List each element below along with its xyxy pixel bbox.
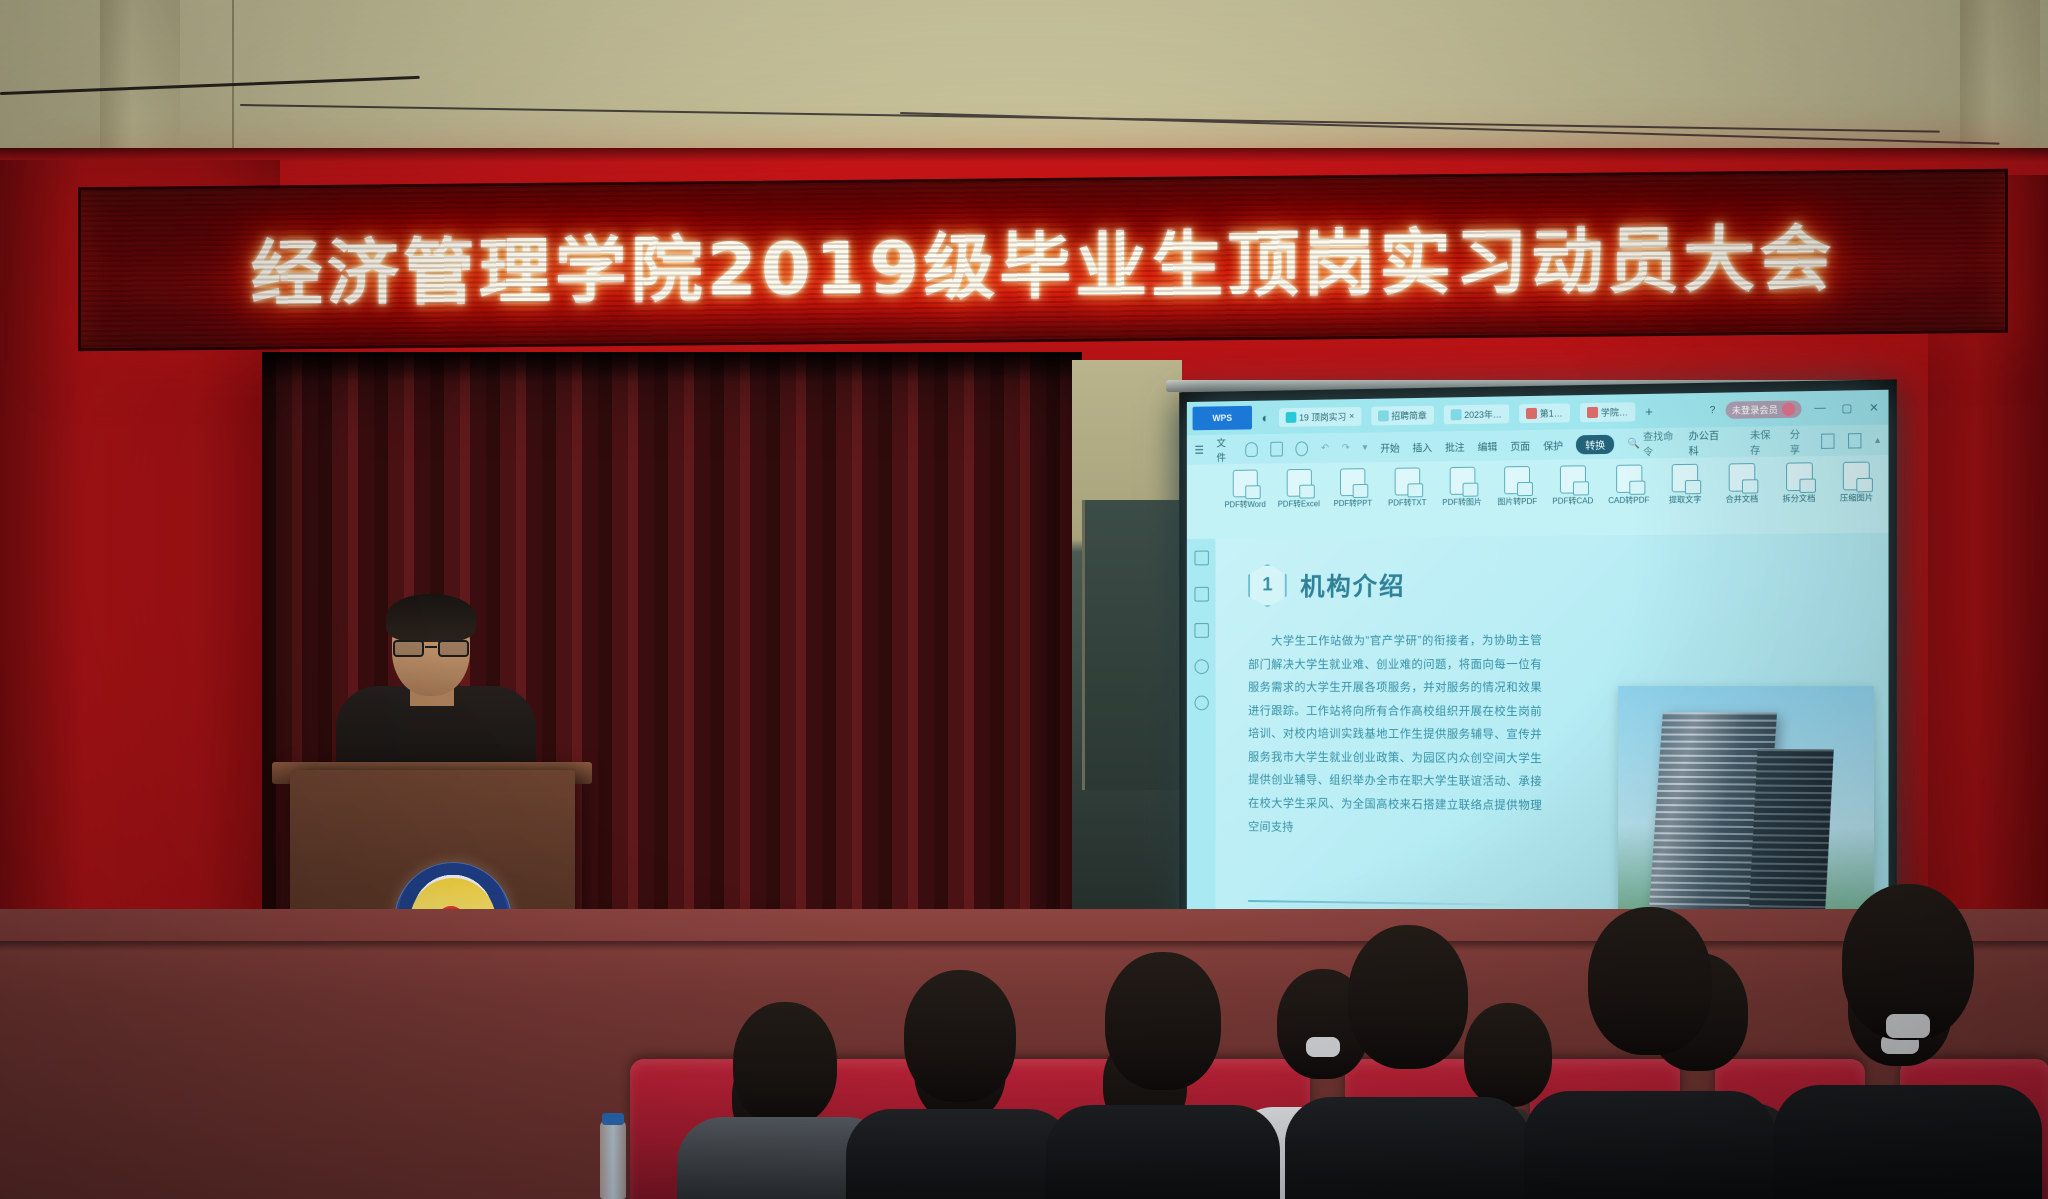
- head: [1105, 952, 1221, 1090]
- ribbon-tool-label: 提取文字: [1669, 496, 1701, 505]
- close-icon[interactable]: ×: [1349, 411, 1354, 421]
- ribbon-tool-label: CAD转PDF: [1608, 497, 1649, 506]
- left-sidebar-rail: [1187, 539, 1216, 925]
- audience-member: [1300, 973, 1515, 1199]
- ribbon-tool[interactable]: PDF转Excel: [1273, 469, 1325, 510]
- chevron-up-icon[interactable]: ▴: [1875, 434, 1880, 445]
- projection-screen-frame: WPS ◐ 19 顶岗实习 × 招聘简章 2023年… 第1…: [1179, 379, 1897, 972]
- chalkboard: [1082, 500, 1188, 790]
- document-tab-label: 19 顶岗实习: [1299, 410, 1346, 424]
- audience-seating: [0, 969, 2048, 1199]
- shoulders: [1285, 1097, 1531, 1199]
- audience-member: [1790, 948, 2025, 1199]
- split-doc-icon: [1786, 462, 1813, 491]
- ribbon-tool[interactable]: PDF转TXT: [1381, 467, 1434, 508]
- fullscreen-icon[interactable]: [1848, 433, 1862, 449]
- ribbon-tool-label: 拆分文档: [1783, 495, 1816, 504]
- document-tab[interactable]: 招聘简章: [1371, 405, 1434, 425]
- section-number-badge: 1: [1248, 564, 1287, 607]
- search-icon: 🔍: [1627, 438, 1640, 449]
- pdf-to-cad-icon: [1560, 465, 1586, 493]
- titlebar-spacer: [1663, 410, 1700, 411]
- audience-member: [860, 998, 1060, 1199]
- ribbon-tool[interactable]: 压缩图片: [1829, 461, 1885, 503]
- ribbon-tool[interactable]: PDF转PPT: [1327, 468, 1379, 509]
- file-menu[interactable]: 文件: [1216, 435, 1232, 465]
- compress-image-icon: [1843, 462, 1870, 491]
- document-tab-label: 学院…: [1601, 405, 1628, 419]
- head: [1348, 925, 1468, 1069]
- audience-member: [1060, 988, 1265, 1199]
- menu-item-insert[interactable]: 插入: [1413, 439, 1433, 454]
- head: [904, 970, 1016, 1102]
- cad-to-pdf-icon: [1616, 465, 1642, 493]
- image-to-pdf-icon: [1504, 466, 1530, 494]
- shoulders: [1524, 1091, 1776, 1199]
- ribbon-tool-label: PDF转CAD: [1552, 497, 1593, 506]
- save-icon[interactable]: [1270, 441, 1283, 456]
- minimize-button[interactable]: —: [1812, 402, 1829, 414]
- annotate-icon[interactable]: [1194, 659, 1208, 674]
- help-icon[interactable]: ?: [1710, 404, 1716, 415]
- led-banner: 经济管理学院2019级毕业生顶岗实习动员大会: [78, 169, 2008, 352]
- ribbon-tool[interactable]: PDF转图片: [1436, 467, 1489, 508]
- pdf-page[interactable]: 1 机构介绍 大学生工作站做为“官产学研”的衔接者，为协助主管部门解决大学生就业…: [1216, 533, 1889, 936]
- doc-tab-icon: [1378, 410, 1389, 421]
- pdf-to-image-icon: [1449, 467, 1475, 495]
- command-search[interactable]: 🔍 查找命令: [1627, 428, 1675, 459]
- close-button[interactable]: ✕: [1866, 401, 1883, 415]
- head: [1588, 907, 1712, 1055]
- audience-member: [1540, 963, 1760, 1199]
- speaker-hair: [386, 594, 476, 642]
- menu-item-comment[interactable]: 批注: [1445, 438, 1465, 453]
- unsaved-indicator[interactable]: 未保存: [1750, 426, 1776, 457]
- undo-icon[interactable]: ↶: [1321, 442, 1329, 453]
- document-tab[interactable]: 2023年…: [1443, 404, 1508, 424]
- tower-secondary: [1747, 749, 1834, 936]
- pdf-tab-icon: [1587, 406, 1598, 417]
- pdf-to-txt-icon: [1395, 467, 1421, 495]
- slide-divider: [1248, 900, 1527, 906]
- redo-icon[interactable]: ↷: [1342, 442, 1350, 453]
- doc-tab-icon: [1286, 411, 1297, 422]
- document-tab[interactable]: 学院…: [1580, 402, 1635, 422]
- pdf-to-excel-icon: [1286, 469, 1311, 497]
- print-icon[interactable]: [1296, 441, 1309, 456]
- slide-title: 机构介绍: [1300, 567, 1405, 603]
- slide-heading: 1 机构介绍: [1248, 560, 1870, 608]
- menu-item-start[interactable]: 开始: [1380, 439, 1400, 454]
- shoulders: [846, 1109, 1074, 1199]
- slide-body-text: 大学生工作站做为“官产学研”的衔接者，为协助主管部门解决大学生就业难、创业难的问…: [1248, 630, 1542, 842]
- document-tab-label: 2023年…: [1464, 407, 1502, 421]
- doc-tab-icon: [1450, 409, 1461, 420]
- avatar: [1782, 402, 1795, 415]
- shoulders: [1046, 1105, 1280, 1199]
- sign-icon[interactable]: [1194, 696, 1208, 711]
- shoulders: [1774, 1085, 2042, 1199]
- face-mask: [1886, 1014, 1930, 1038]
- share-button[interactable]: 分享: [1790, 426, 1808, 457]
- document-tab-label: 第1…: [1540, 406, 1563, 419]
- ribbon-tool-label: PDF转TXT: [1388, 499, 1426, 508]
- menu-item-protect[interactable]: 保护: [1543, 437, 1563, 452]
- pdf-tab-icon: [1526, 407, 1537, 418]
- wall-shadow: [0, 148, 2048, 162]
- user-account-pill[interactable]: 未登录会员: [1726, 400, 1802, 418]
- wps-logo: WPS: [1193, 406, 1252, 431]
- bottle-cap: [602, 1113, 624, 1125]
- collaborate-icon[interactable]: [1821, 433, 1835, 448]
- extract-text-icon: [1672, 464, 1698, 493]
- stage-edge: [0, 941, 2048, 951]
- ribbon-tool-label: PDF转Excel: [1278, 500, 1320, 509]
- ribbon-tool[interactable]: 提取文字: [1658, 464, 1713, 506]
- pdf-to-ppt-icon: [1340, 468, 1365, 496]
- lens-bridge: [425, 646, 437, 648]
- auditorium-scene: 经济管理学院2019级毕业生顶岗实习动员大会 WPS ◐ 19 顶岗实习 × 招…: [0, 0, 2048, 1199]
- ribbon-tool[interactable]: PDF转Word: [1219, 469, 1271, 510]
- ribbon-tool-label: 压缩图片: [1840, 494, 1873, 503]
- water-bottle: [600, 1121, 626, 1199]
- document-tab[interactable]: 19 顶岗实习 ×: [1279, 406, 1361, 426]
- cloud-icon[interactable]: [1245, 442, 1258, 457]
- merge-doc-icon: [1729, 463, 1756, 492]
- ribbon-tool[interactable]: PDF转CAD: [1546, 465, 1600, 507]
- led-banner-text: 经济管理学院2019级毕业生顶岗实习动员大会: [81, 198, 2005, 321]
- thumbnail-icon[interactable]: [1194, 587, 1208, 602]
- menu-item-edit[interactable]: 编辑: [1478, 438, 1498, 453]
- ribbon-tool-label: PDF转PPT: [1334, 500, 1373, 509]
- help-link[interactable]: 办公百科: [1689, 427, 1724, 458]
- comment-icon[interactable]: [1194, 623, 1208, 638]
- ribbon-tool-label: 合并文档: [1725, 495, 1758, 504]
- menu-item-page[interactable]: 页面: [1510, 437, 1530, 452]
- search-placeholder: 查找命令: [1643, 428, 1675, 459]
- projection-screen: WPS ◐ 19 顶岗实习 × 招聘简章 2023年… 第1…: [1187, 390, 1889, 965]
- document-tab[interactable]: 第1…: [1519, 403, 1570, 423]
- menu-item-convert[interactable]: 转换: [1576, 434, 1614, 454]
- bookmark-icon[interactable]: [1194, 551, 1208, 566]
- maximize-button[interactable]: ▢: [1839, 401, 1856, 415]
- ribbon-tool-label: PDF转图片: [1442, 499, 1482, 508]
- office-tower-photo: [1618, 686, 1874, 936]
- ribbon-tool[interactable]: CAD转PDF: [1602, 464, 1656, 506]
- document-tab-label: 招聘简章: [1391, 408, 1426, 421]
- ribbon-tool-label: PDF转Word: [1224, 501, 1265, 510]
- convert-ribbon: PDF转Word PDF转Excel PDF转PPT PDF转TXT PDF转图…: [1187, 455, 1889, 539]
- app-home-icon[interactable]: ◐: [1262, 410, 1270, 425]
- eyeglasses-icon: [392, 640, 470, 657]
- curtain-shadow: [262, 352, 1082, 382]
- ribbon-tool-label: 图片转PDF: [1497, 498, 1537, 507]
- ribbon-tool[interactable]: 图片转PDF: [1491, 466, 1544, 507]
- hamburger-icon[interactable]: ☰: [1194, 443, 1203, 456]
- lens-right: [438, 640, 469, 657]
- ribbon-tool[interactable]: 拆分文档: [1771, 462, 1826, 504]
- dropdown-icon[interactable]: ▾: [1363, 442, 1368, 453]
- ribbon-tool[interactable]: 合并文档: [1714, 463, 1769, 505]
- pdf-to-word-icon: [1233, 470, 1258, 498]
- user-label: 未登录会员: [1732, 402, 1778, 416]
- head: [733, 1002, 837, 1126]
- new-tab-button[interactable]: +: [1645, 403, 1653, 418]
- lens-left: [393, 640, 424, 657]
